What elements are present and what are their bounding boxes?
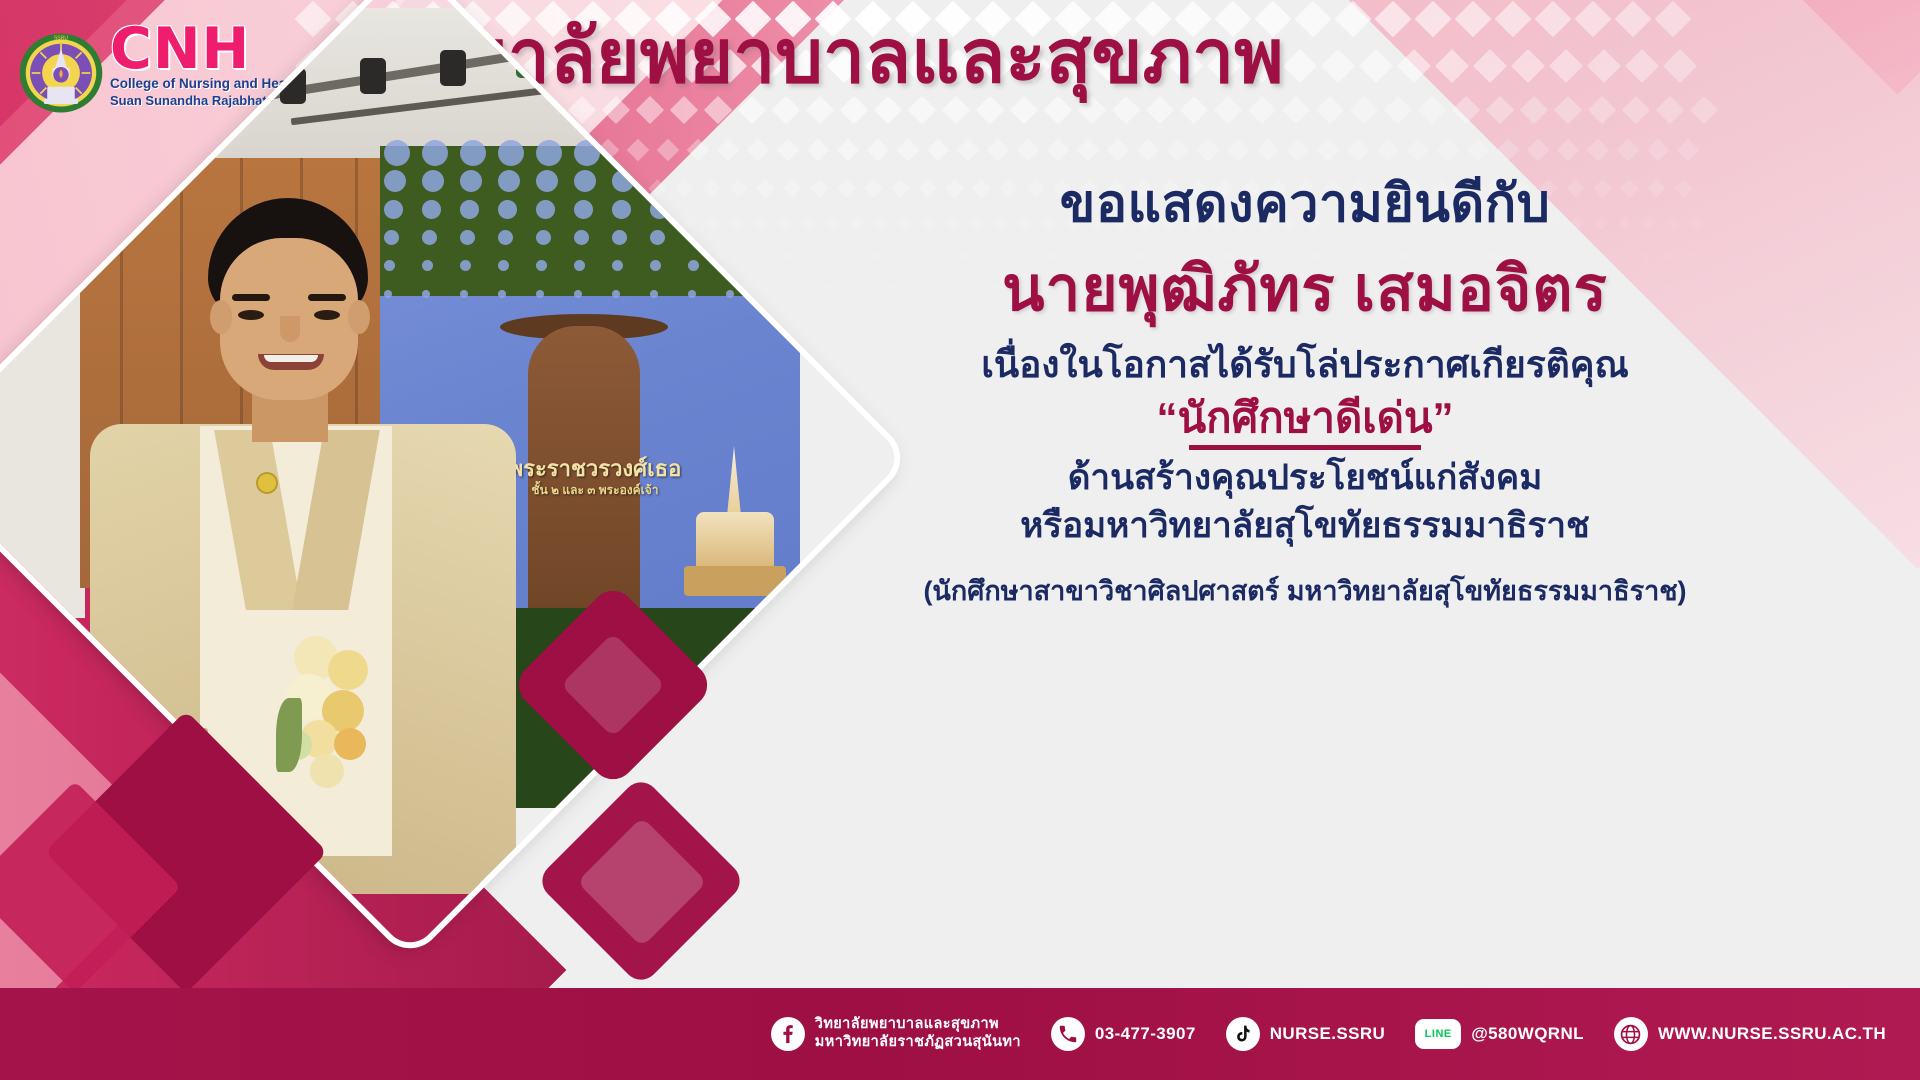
svg-text:SSRU: SSRU <box>54 35 69 41</box>
footer-website-value: WWW.NURSE.SSRU.AC.TH <box>1658 1024 1886 1044</box>
footer-line-value: @580WQRNL <box>1471 1024 1584 1044</box>
tiktok-icon <box>1226 1017 1260 1051</box>
facebook-icon <box>771 1017 805 1051</box>
award-reason: เนื่องในโอกาสได้รับโล่ประกาศเกียรติคุณ <box>700 342 1910 387</box>
footer-facebook[interactable]: วิทยาลัยพยาบาลและสุขภาพ มหาวิทยาลัยราชภั… <box>771 1016 1021 1051</box>
footer-phone[interactable]: 03-477-3907 <box>1051 1017 1196 1051</box>
footer-website[interactable]: WWW.NURSE.SSRU.AC.TH <box>1614 1017 1886 1051</box>
footer-bar: วิทยาลัยพยาบาลและสุขภาพ มหาวิทยาลัยราชภั… <box>0 988 1920 1080</box>
footer-tiktok-value: NURSE.SSRU <box>1270 1024 1385 1044</box>
footer-line[interactable]: LINE @580WQRNL <box>1415 1019 1584 1049</box>
award-title-underline <box>1189 445 1421 450</box>
message-block: ขอแสดงความยินดีกับ นายพุฒิภัทร เสมอจิตร … <box>700 175 1910 608</box>
award-title-wrap: “นักศึกษาดีเด่น” <box>700 387 1910 452</box>
line-icon: LINE <box>1415 1019 1461 1049</box>
ssru-seal-icon: SSRU <box>18 30 104 116</box>
poster-canvas: SSRU CNH College of Nursing and Health S… <box>0 0 1920 1080</box>
award-detail-line-1: ด้านสร้างคุณประโยชน์แก่สังคม <box>700 456 1910 499</box>
honoree-name: นายพุฒิภัทร เสมอจิตร <box>700 255 1910 326</box>
footer-contacts: วิทยาลัยพยาบาลและสุขภาพ มหาวิทยาลัยราชภั… <box>480 1016 1920 1051</box>
congratulations-line: ขอแสดงความยินดีกับ <box>700 175 1910 233</box>
footer-facebook-label: วิทยาลัยพยาบาลและสุขภาพ มหาวิทยาลัยราชภั… <box>815 1016 1021 1051</box>
award-title: “นักศึกษาดีเด่น” <box>1156 394 1453 441</box>
footer-left-spacer <box>0 988 480 1080</box>
globe-icon <box>1614 1017 1648 1051</box>
telephone-icon <box>1051 1017 1085 1051</box>
footer-tiktok[interactable]: NURSE.SSRU <box>1226 1017 1385 1051</box>
award-detail-line-2: หรือมหาวิทยาลัยสุโขทัยธรรมมาธิราช <box>700 504 1910 547</box>
affiliation-line: (นักศึกษาสาขาวิชาศิลปศาสตร์ มหาวิทยาลัยส… <box>700 575 1910 607</box>
footer-phone-value: 03-477-3907 <box>1095 1024 1196 1044</box>
